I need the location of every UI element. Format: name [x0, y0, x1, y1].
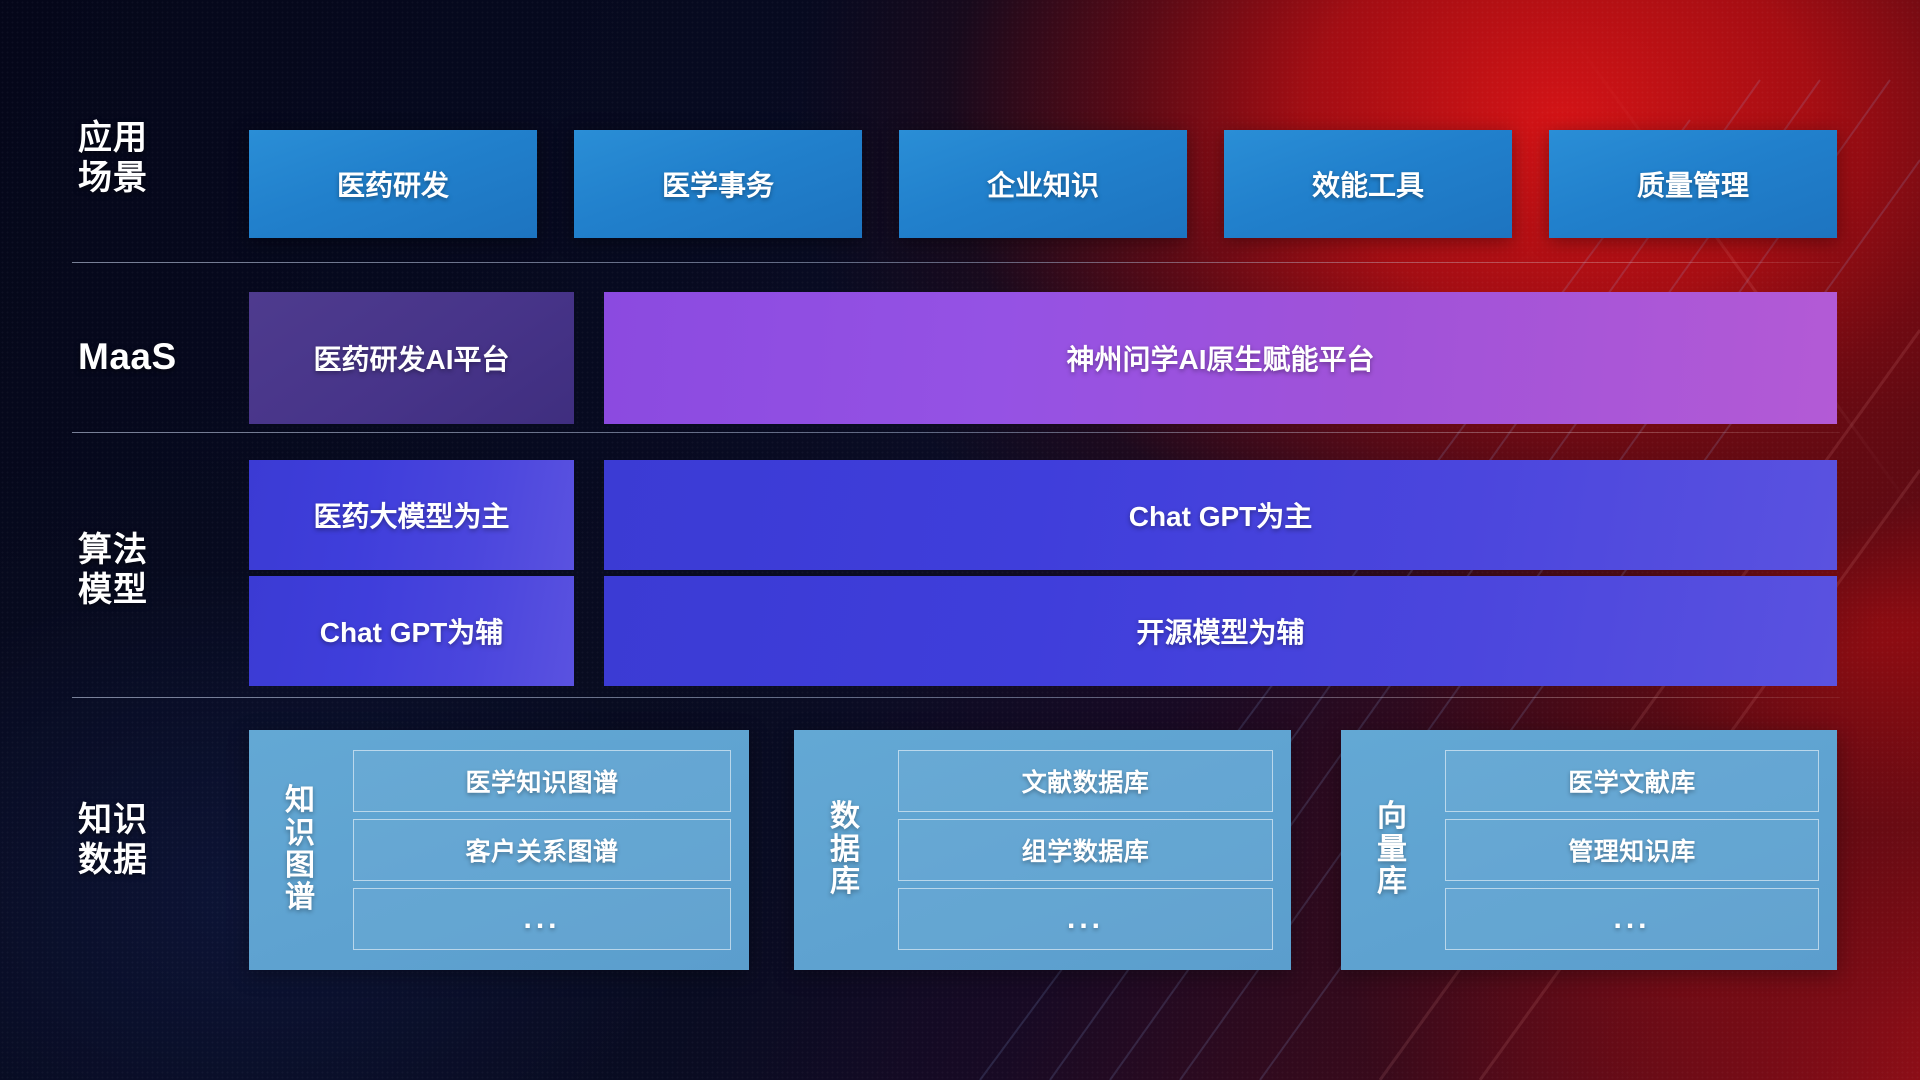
title-char: 据: [830, 834, 860, 866]
row-label-maas: MaaS: [78, 335, 218, 379]
knowledge-item-more-ellipsis[interactable]: ...: [353, 888, 731, 950]
app-box-enterprise-knowledge[interactable]: 企业知识: [899, 130, 1187, 238]
knowledge-item-management-knowledge-store[interactable]: 管理知识库: [1445, 819, 1819, 881]
algorithm-box-medicine-large-model-primary[interactable]: 医药大模型为主: [249, 460, 574, 570]
title-char: 向: [1377, 801, 1407, 833]
knowledge-item-more-ellipsis[interactable]: ...: [898, 888, 1273, 950]
knowledge-group-knowledge-graph[interactable]: 知 识 图 谱 医学知识图谱 客户关系图谱 ...: [249, 730, 749, 970]
title-char: 库: [830, 866, 860, 898]
row-label-line: 模型: [78, 570, 218, 610]
title-char: 识: [285, 818, 315, 850]
knowledge-group-items: 医学文献库 管理知识库 ...: [1429, 744, 1819, 956]
knowledge-item-medical-knowledge-graph[interactable]: 医学知识图谱: [353, 750, 731, 812]
row-separator-2: [72, 432, 1840, 433]
knowledge-item-literature-database[interactable]: 文献数据库: [898, 750, 1273, 812]
knowledge-group-database[interactable]: 数 据 库 文献数据库 组学数据库 ...: [794, 730, 1291, 970]
title-char: 谱: [285, 882, 315, 914]
architecture-diagram-canvas: 应用 场景 医药研发 医学事务 企业知识 效能工具 质量管理 MaaS 医药研发…: [0, 0, 1920, 1080]
row-label-algorithm-models: 算法 模型: [78, 530, 218, 610]
knowledge-item-more-ellipsis[interactable]: ...: [1445, 888, 1819, 950]
algorithm-box-chatgpt-primary[interactable]: Chat GPT为主: [604, 460, 1837, 570]
app-box-efficiency-tools[interactable]: 效能工具: [1224, 130, 1512, 238]
row-label-knowledge-data: 知识 数据: [78, 800, 218, 880]
knowledge-item-omics-database[interactable]: 组学数据库: [898, 819, 1273, 881]
app-box-medical-affairs[interactable]: 医学事务: [574, 130, 862, 238]
row-separator-3: [72, 697, 1840, 698]
title-char: 图: [285, 850, 315, 882]
row-label-line: 算法: [78, 530, 218, 570]
row-label-line: 知识: [78, 800, 218, 840]
knowledge-group-title-knowledge-graph: 知 识 图 谱: [263, 744, 337, 956]
row-label-application-scenarios: 应用 场景: [78, 118, 218, 198]
title-char: 知: [285, 785, 315, 817]
maas-box-shenzhou-wenxue-platform[interactable]: 神州问学AI原生赋能平台: [604, 292, 1837, 424]
row-separator-1: [72, 262, 1840, 263]
algorithm-box-open-source-model-secondary[interactable]: 开源模型为辅: [604, 576, 1837, 686]
maas-box-medicine-rd-ai-platform[interactable]: 医药研发AI平台: [249, 292, 574, 424]
knowledge-item-medical-literature-store[interactable]: 医学文献库: [1445, 750, 1819, 812]
row-label-line: 场景: [78, 158, 218, 198]
knowledge-group-title-database: 数 据 库: [808, 744, 882, 956]
knowledge-item-customer-relationship-graph[interactable]: 客户关系图谱: [353, 819, 731, 881]
app-box-quality-management[interactable]: 质量管理: [1549, 130, 1837, 238]
knowledge-group-items: 医学知识图谱 客户关系图谱 ...: [337, 744, 731, 956]
app-box-medicine-rd[interactable]: 医药研发: [249, 130, 537, 238]
knowledge-group-vector-store[interactable]: 向 量 库 医学文献库 管理知识库 ...: [1341, 730, 1837, 970]
knowledge-group-title-vector-store: 向 量 库: [1355, 744, 1429, 956]
algorithm-box-chatgpt-secondary[interactable]: Chat GPT为辅: [249, 576, 574, 686]
title-char: 数: [830, 801, 860, 833]
row-label-line: 数据: [78, 840, 218, 880]
title-char: 量: [1377, 834, 1407, 866]
knowledge-group-items: 文献数据库 组学数据库 ...: [882, 744, 1273, 956]
row-label-line: 应用: [78, 118, 218, 158]
title-char: 库: [1377, 866, 1407, 898]
